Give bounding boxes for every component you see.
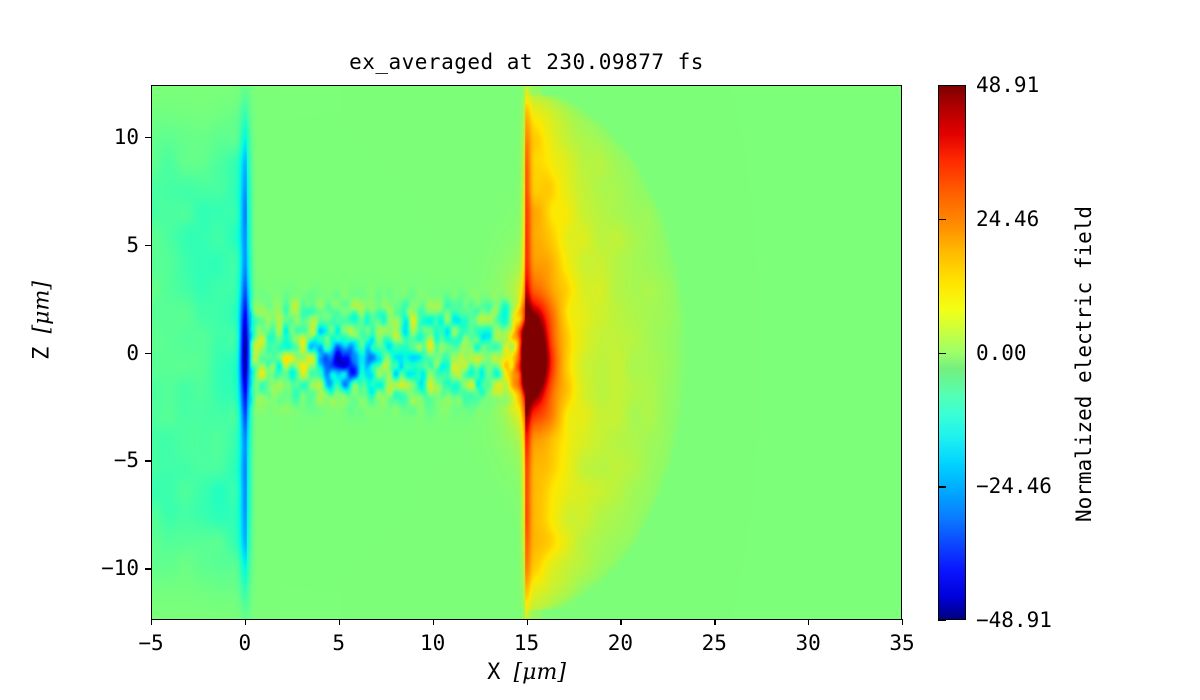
y-tick-label: −10 [101, 556, 139, 580]
x-tick-label: 5 [332, 631, 345, 655]
figure-canvas: ex_averaged at 230.09877 fs −50510152025… [0, 0, 1200, 700]
colorbar-tick-mark [938, 353, 946, 354]
y-tick-label: 10 [114, 125, 139, 149]
y-axis-ticks [151, 85, 902, 620]
y-axis-title-prefix: Z [30, 333, 55, 360]
y-tick-mark [145, 137, 151, 138]
colorbar-tick-mark [938, 620, 946, 621]
y-tick-mark [145, 353, 151, 354]
colorbar-tick-mark [938, 486, 946, 487]
colorbar-tick-label: 0.00 [976, 341, 1027, 365]
colorbar-tick-label: −24.46 [976, 474, 1052, 498]
x-tick-label: 10 [420, 631, 445, 655]
y-tick-label: 0 [126, 341, 139, 365]
y-tick-mark [145, 460, 151, 461]
x-tick-label: 0 [239, 631, 252, 655]
colorbar-tick-mark [938, 219, 946, 220]
y-axis-tick-labels: 1050−5−10 [75, 85, 139, 620]
colorbar-tick-label: 48.91 [976, 73, 1039, 97]
y-tick-mark [145, 568, 151, 569]
x-tick-label: 20 [608, 631, 633, 655]
x-tick-label: 25 [702, 631, 727, 655]
plot-title: ex_averaged at 230.09877 fs [151, 50, 902, 74]
x-tick-label: −5 [138, 631, 163, 655]
y-axis-title: Z [μm] [30, 71, 55, 571]
y-tick-mark [145, 245, 151, 246]
x-tick-mark [902, 619, 903, 625]
colorbar-tick-mark [938, 85, 946, 86]
colorbar-tick-label: 24.46 [976, 207, 1039, 231]
colorbar-title: Normalized electric field [1072, 114, 1096, 614]
colorbar-tick-label: −48.91 [976, 608, 1052, 632]
x-tick-label: 35 [889, 631, 914, 655]
y-tick-label: −5 [114, 448, 139, 472]
x-axis-title: X [μm] [151, 660, 902, 685]
x-axis-title-unit: [μm] [514, 660, 566, 685]
x-axis-title-prefix: X [487, 660, 514, 685]
y-axis-title-unit: [μm] [30, 281, 55, 333]
y-tick-label: 5 [126, 233, 139, 257]
x-tick-label: 15 [514, 631, 539, 655]
x-tick-label: 30 [795, 631, 820, 655]
